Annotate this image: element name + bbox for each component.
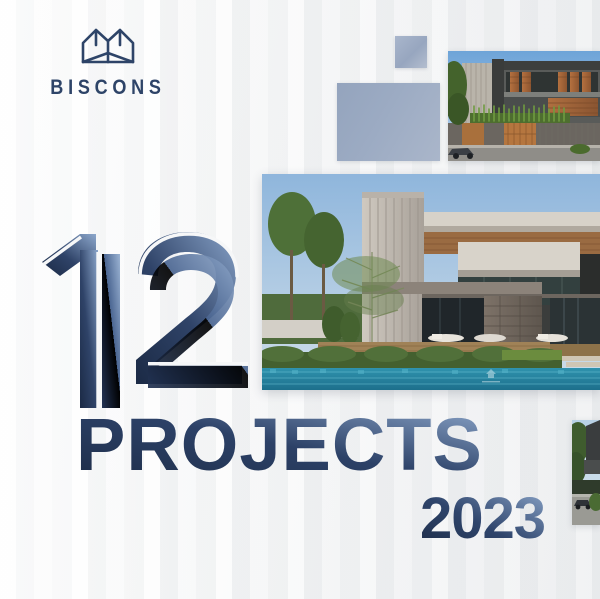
of-the-year-label: OF THE YEAR: [246, 506, 402, 528]
photo-townhouse-art: [448, 51, 600, 161]
year-2023-art: 2023: [420, 488, 580, 546]
headline-projects: PROJECTS: [76, 408, 576, 486]
subtitle-row: OF THE YEAR 2023: [84, 486, 574, 548]
headline-number-12: [36, 228, 266, 414]
brand-wordmark: BISCONS: [48, 76, 168, 100]
open-book-house-icon: [80, 26, 136, 66]
photo-villa-art: [262, 174, 600, 390]
photo-modern-villa: [262, 174, 600, 390]
projects-text-art: PROJECTS: [76, 408, 576, 486]
placeholder-square: [395, 36, 427, 68]
placeholder-rectangle: [337, 83, 440, 161]
photo-townhouse-facade: [448, 51, 600, 161]
numeral-12-art: [36, 228, 266, 414]
year-number: 2023: [420, 488, 580, 546]
year-2023-label: 2023: [420, 488, 545, 546]
brand-logo: BISCONS: [38, 26, 178, 100]
divider-rule: [84, 516, 224, 519]
projects-label: PROJECTS: [76, 408, 483, 486]
poster-canvas: BISCONS: [0, 0, 600, 599]
